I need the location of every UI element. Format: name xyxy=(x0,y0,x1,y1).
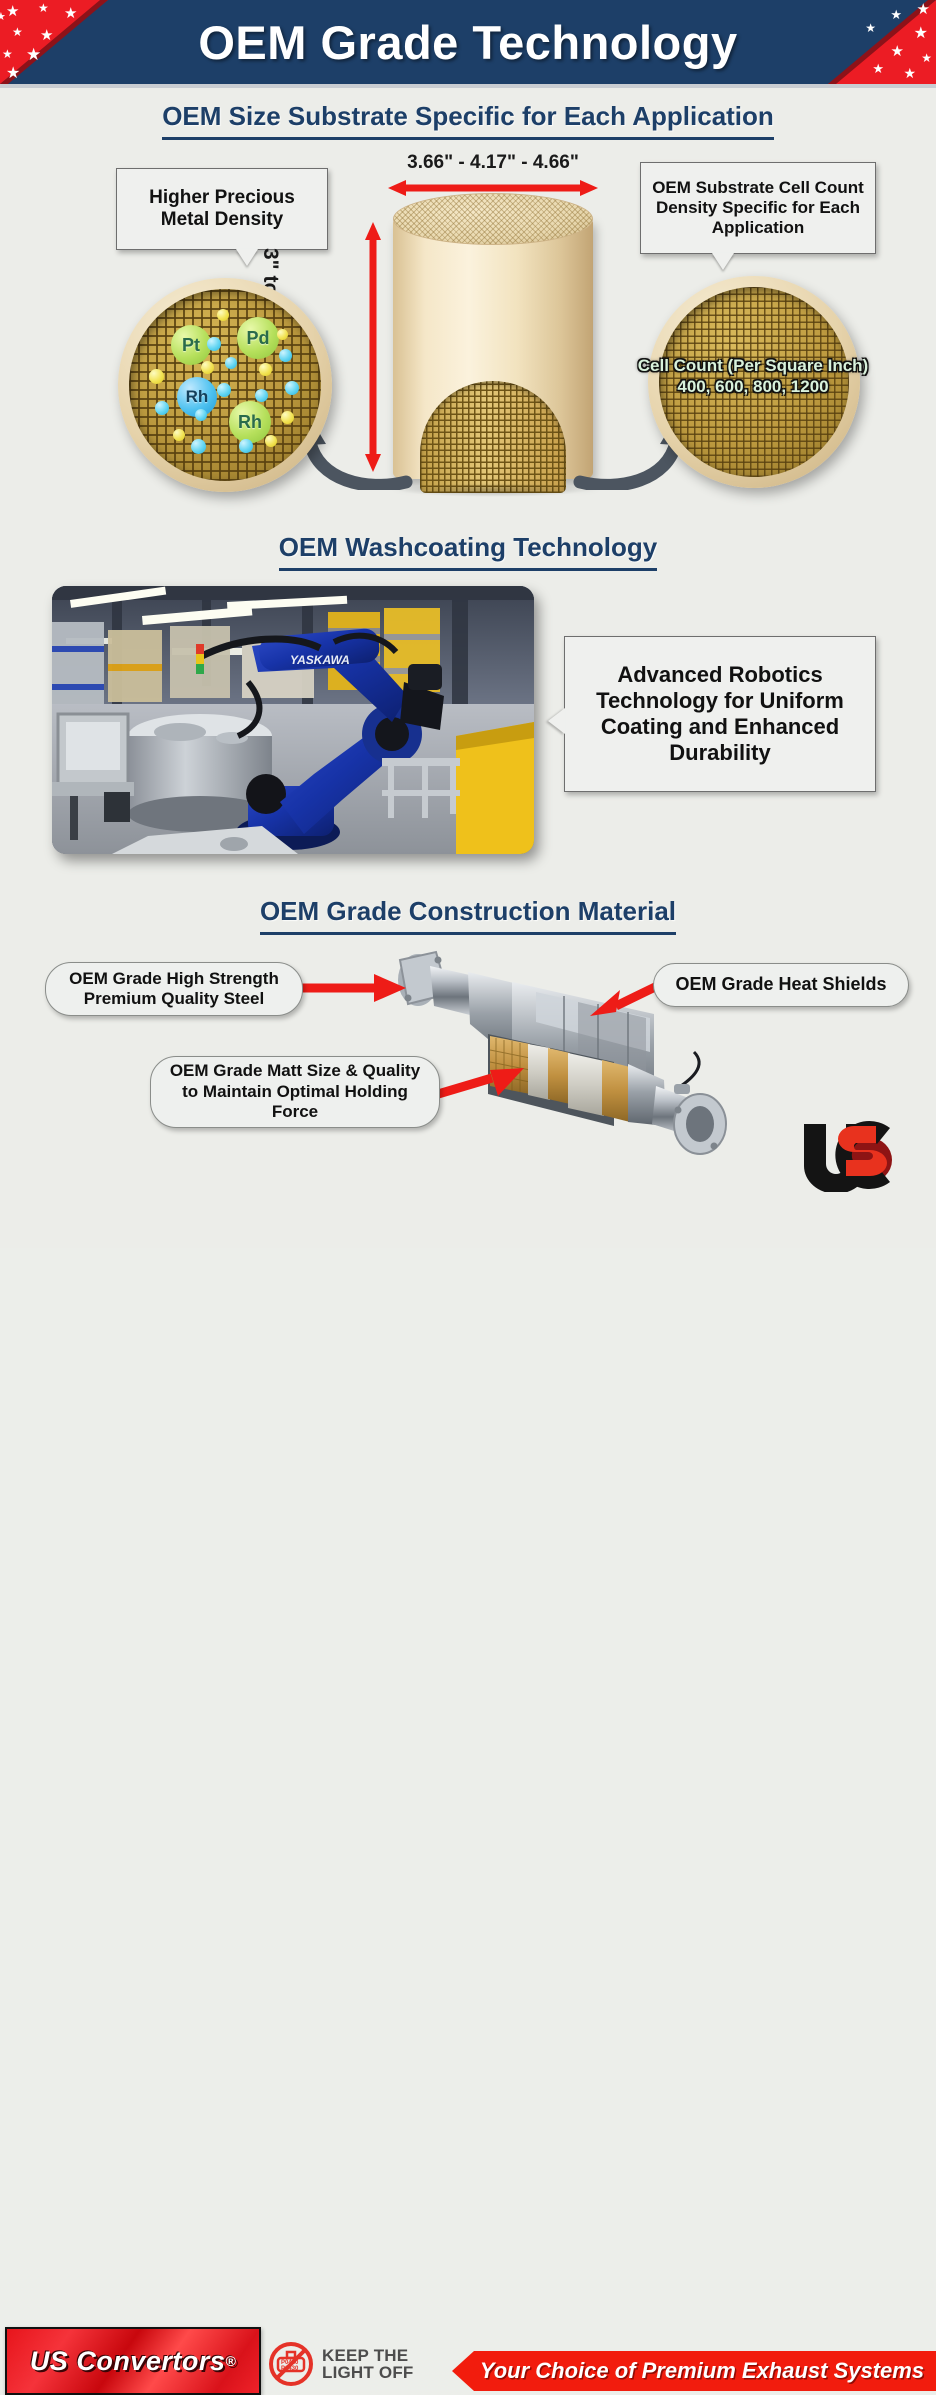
metal-dot xyxy=(207,337,221,351)
section-heading-washcoating-text: OEM Washcoating Technology xyxy=(279,532,657,571)
metal-dot xyxy=(277,329,288,340)
section-heading-construction: OEM Grade Construction Material xyxy=(0,896,936,935)
keep-light-line-2: LIGHT OFF xyxy=(322,2364,414,2381)
metal-dot xyxy=(281,411,294,424)
dimension-width-label: 3.66" - 4.17" - 4.66" xyxy=(363,152,623,174)
page-header: ★ ★ ★ ★ ★ ★ ★ ★ ★ OEM Grade Technology ★… xyxy=(0,0,936,84)
callout-heat-shields-text: OEM Grade Heat Shields xyxy=(675,974,886,996)
keep-the-light-off-text: KEEP THE LIGHT OFF xyxy=(322,2347,414,2382)
metal-dot xyxy=(195,409,207,421)
metal-dot xyxy=(173,429,185,441)
page-title: OEM Grade Technology xyxy=(0,0,936,84)
callout-high-strength-steel: OEM Grade High Strength Premium Quality … xyxy=(45,962,303,1016)
metal-dot xyxy=(191,439,206,454)
metal-marker-rh-green: Rh xyxy=(229,401,271,443)
arrow-steel-icon xyxy=(300,974,406,1002)
metal-dot xyxy=(155,401,169,415)
metal-dot xyxy=(201,361,214,374)
metal-dot xyxy=(217,383,231,397)
usc-logo[interactable] xyxy=(798,1118,928,1192)
header-divider xyxy=(0,84,936,88)
callout-heat-shields: OEM Grade Heat Shields xyxy=(653,963,909,1007)
metal-marker-pt: Pt xyxy=(171,325,211,365)
metal-dot xyxy=(255,389,268,402)
tagline-text: Your Choice of Premium Exhaust Systems xyxy=(464,2358,924,2384)
callout-advanced-robotics: Advanced Robotics Technology for Uniform… xyxy=(564,636,876,792)
no-check-engine-light-icon: P0420 P0430 xyxy=(268,2341,314,2387)
callout-matt-size-quality-text: OEM Grade Matt Size & Quality to Maintai… xyxy=(163,1061,427,1122)
callout-higher-precious-metal-density: Higher Precious Metal Density xyxy=(116,168,328,250)
cell-count-label: Cell Count (Per Square Inch) 400, 600, 8… xyxy=(603,355,903,398)
keep-the-light-off-badge: P0420 P0430 KEEP THE LIGHT OFF xyxy=(268,2340,438,2388)
metal-dot xyxy=(225,357,237,369)
brand-name: US Convertors xyxy=(30,2346,226,2377)
infographic-page: ★ ★ ★ ★ ★ ★ ★ ★ ★ OEM Grade Technology ★… xyxy=(0,0,936,1248)
cell-count-values: 400, 600, 800, 1200 xyxy=(603,376,903,397)
callout-tail-icon xyxy=(236,249,258,266)
section-heading-washcoating: OEM Washcoating Technology xyxy=(0,532,936,571)
metal-dot xyxy=(217,309,229,321)
callout-higher-precious-metal-density-text: Higher Precious Metal Density xyxy=(126,187,318,232)
substrate-cylinder xyxy=(393,193,593,493)
cell-count-title: Cell Count (Per Square Inch) xyxy=(603,355,903,376)
callout-high-strength-steel-text: OEM Grade High Strength Premium Quality … xyxy=(58,969,290,1010)
metal-dot xyxy=(259,363,272,376)
metal-marker-pd: Pd xyxy=(237,317,279,359)
registered-mark: ® xyxy=(225,2353,236,2369)
us-convertors-logo-text: US Convertors® xyxy=(7,2329,259,2393)
metal-dot xyxy=(239,439,253,453)
metal-dot xyxy=(279,349,292,362)
section-heading-substrate-text: OEM Size Substrate Specific for Each App… xyxy=(162,101,774,140)
magnifier-precious-metals: Pt Pd Rh Rh xyxy=(118,278,332,492)
robot-brand-label: YASKAWA xyxy=(290,653,350,667)
metal-dot xyxy=(285,381,299,395)
callout-matt-size-quality: OEM Grade Matt Size & Quality to Maintai… xyxy=(150,1056,440,1128)
washcoating-robot-photo: YASKAWA xyxy=(52,586,534,854)
metal-dot xyxy=(149,369,164,384)
callout-advanced-robotics-text: Advanced Robotics Technology for Uniform… xyxy=(574,662,866,766)
us-convertors-logo[interactable]: US Convertors® xyxy=(5,2327,261,2395)
metal-dot xyxy=(265,435,277,447)
section-heading-substrate: OEM Size Substrate Specific for Each App… xyxy=(0,101,936,140)
tagline-banner: Your Choice of Premium Exhaust Systems xyxy=(452,2351,936,2391)
section-heading-construction-text: OEM Grade Construction Material xyxy=(260,896,676,935)
callout-substrate-cell-count-text: OEM Substrate Cell Count Density Specifi… xyxy=(650,178,866,238)
callout-tail-icon xyxy=(712,253,734,270)
keep-light-line-1: KEEP THE xyxy=(322,2347,414,2364)
callout-tail-icon xyxy=(548,708,565,734)
callout-substrate-cell-count: OEM Substrate Cell Count Density Specifi… xyxy=(640,162,876,254)
page-footer: US Convertors® P0420 P0430 KEEP THE LIGH… xyxy=(0,1155,936,1248)
substrate-top-honeycomb xyxy=(393,193,593,245)
